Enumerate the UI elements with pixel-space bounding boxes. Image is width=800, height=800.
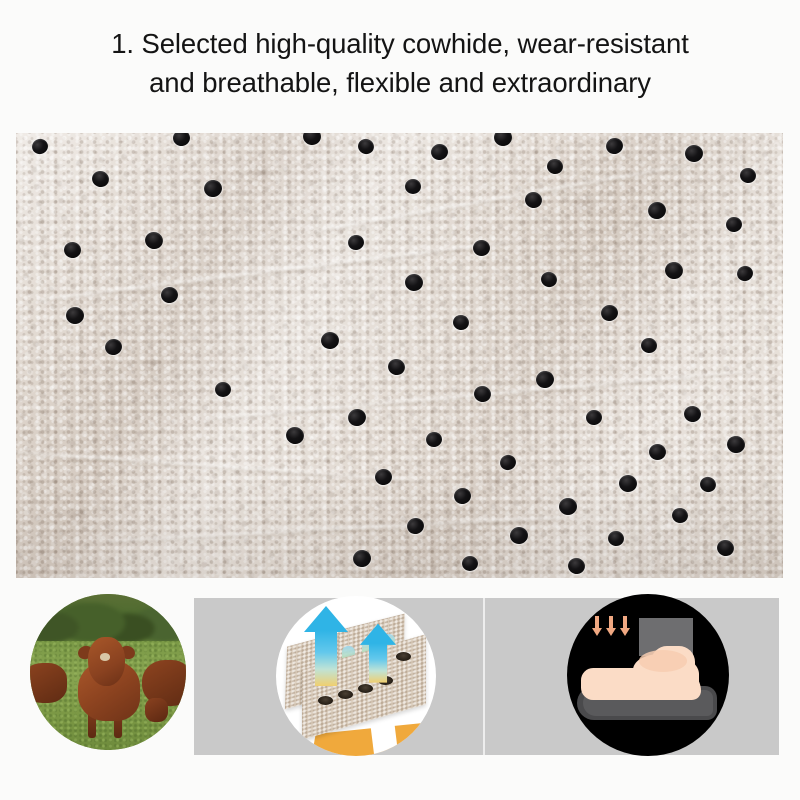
cow-head xyxy=(88,637,125,686)
thumbnail-cushioning[interactable] xyxy=(485,598,779,755)
arrow-head-icon xyxy=(304,606,348,632)
perforation-hole xyxy=(559,498,577,515)
cushioning-circle xyxy=(567,594,729,756)
foot-illustration xyxy=(581,646,709,702)
perforation-hole xyxy=(462,556,478,571)
perforation-hole xyxy=(358,684,373,693)
leather-lighting-overlay xyxy=(16,133,783,578)
arrow-shaft xyxy=(369,643,387,682)
foot-sole xyxy=(581,668,701,700)
product-feature-page: 1. Selected high-quality cowhide, wear-r… xyxy=(0,0,800,800)
page-title: 1. Selected high-quality cowhide, wear-r… xyxy=(0,24,800,102)
perforation-hole xyxy=(473,240,490,256)
background-cow-right xyxy=(142,660,186,707)
perforation-hole xyxy=(66,307,84,324)
page-title-line-2: and breathable, flexible and extraordina… xyxy=(24,63,776,102)
breathability-circle xyxy=(276,596,436,756)
perforation-hole xyxy=(318,696,333,705)
foreground-cow xyxy=(74,635,146,738)
thumbnail-cow-pasture[interactable] xyxy=(22,592,182,760)
arrow-head-icon xyxy=(606,628,616,636)
page-title-line-1: 1. Selected high-quality cowhide, wear-r… xyxy=(24,24,776,63)
white-accent-tab xyxy=(370,717,398,756)
perforation-hole xyxy=(405,179,421,194)
foot-shading xyxy=(639,650,687,672)
arrow-shaft xyxy=(609,616,613,628)
cow-muzzle xyxy=(100,653,110,660)
cowhide-leather-image xyxy=(16,133,783,578)
arrow-head-icon xyxy=(620,628,630,636)
airflow-arrow-small xyxy=(363,624,393,675)
perforation-hole xyxy=(338,690,353,699)
arrow-shaft xyxy=(623,616,627,628)
airflow-arrow-large xyxy=(304,606,348,680)
perforation-hole xyxy=(649,444,666,460)
arrow-head-icon xyxy=(592,628,602,636)
perforation-hole xyxy=(396,652,411,661)
background-cow-left xyxy=(30,663,67,704)
arrow-shaft xyxy=(315,630,337,686)
arrow-head-icon xyxy=(360,624,396,645)
arrow-shaft xyxy=(595,616,599,628)
cow-photo-circle xyxy=(30,594,186,750)
thumbnail-breathability[interactable] xyxy=(194,598,483,755)
feature-thumbnail-strip xyxy=(0,592,800,767)
perforation-hole xyxy=(215,382,231,397)
